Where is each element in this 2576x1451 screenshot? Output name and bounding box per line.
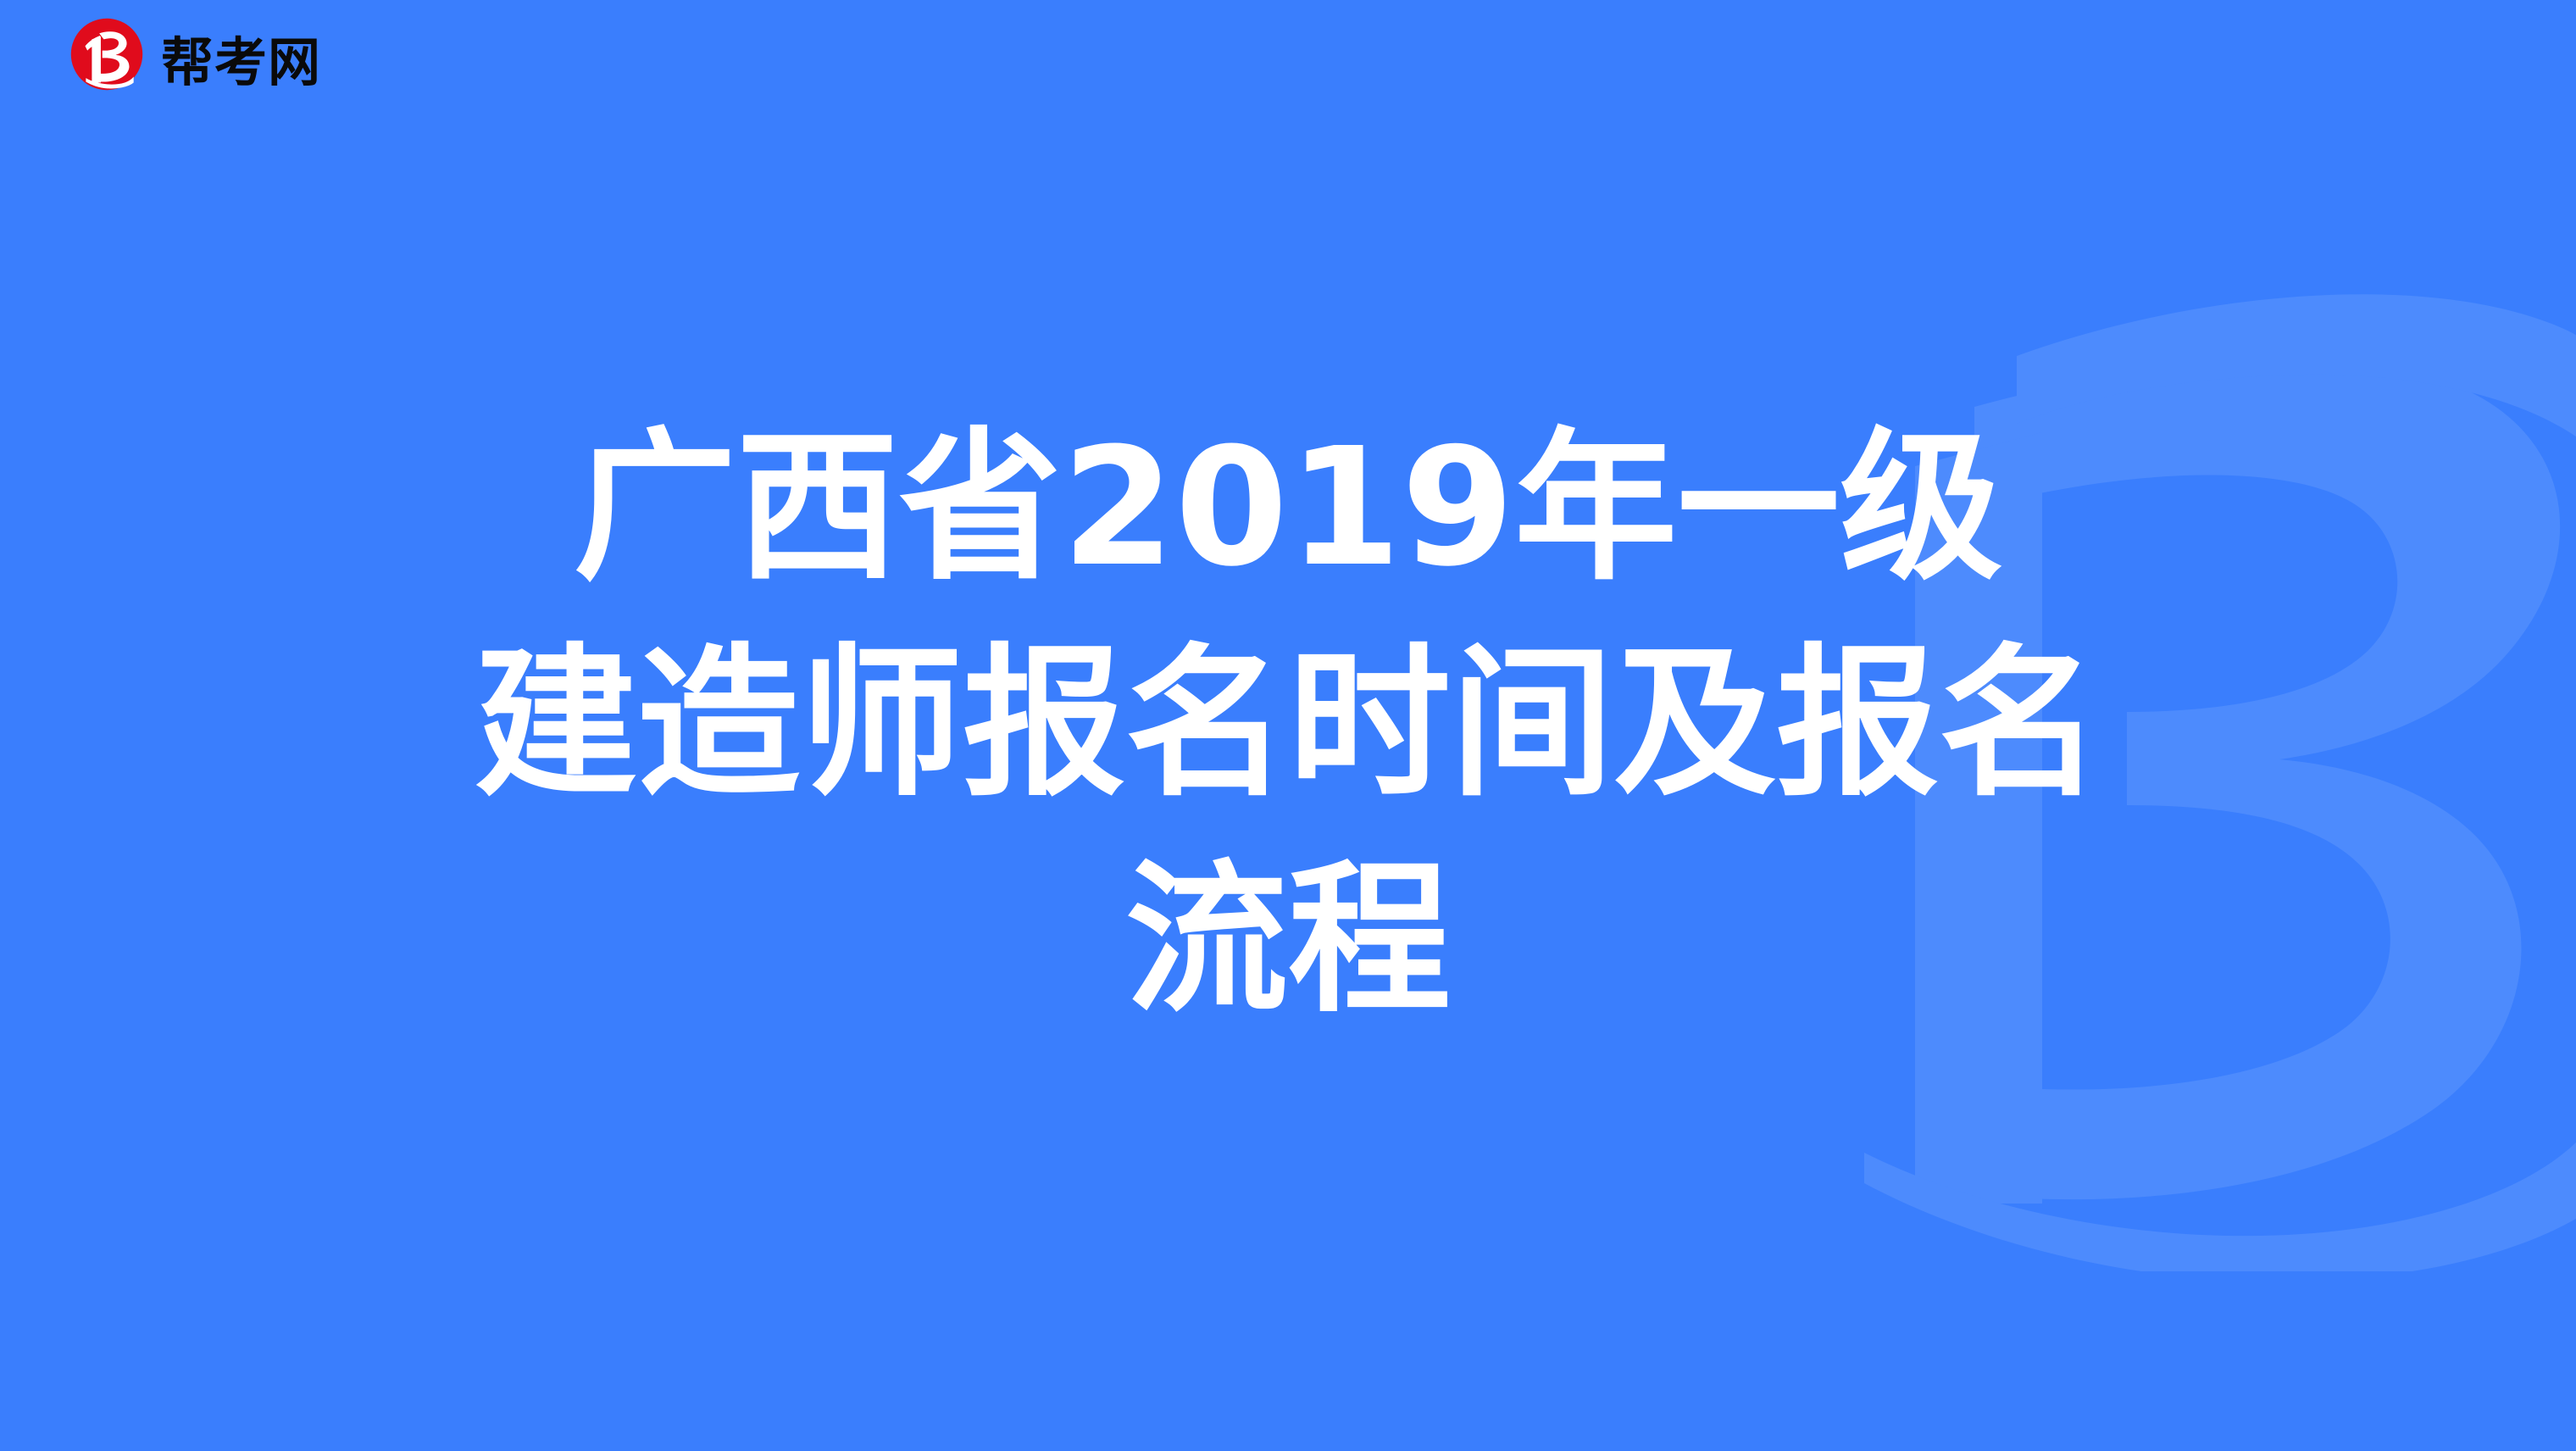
title-line-1: 广西省2019年一级	[458, 400, 2118, 616]
poster-canvas: 帮考网 广西省2019年一级 建造师报名时间及报名 流程	[0, 0, 2576, 1451]
title-line-2: 建造师报名时间及报名	[458, 616, 2118, 832]
title-line-3: 流程	[458, 832, 2118, 1048]
page-title: 广西省2019年一级 建造师报名时间及报名 流程	[458, 400, 2118, 1048]
title-block: 广西省2019年一级 建造师报名时间及报名 流程	[0, 0, 2576, 1451]
